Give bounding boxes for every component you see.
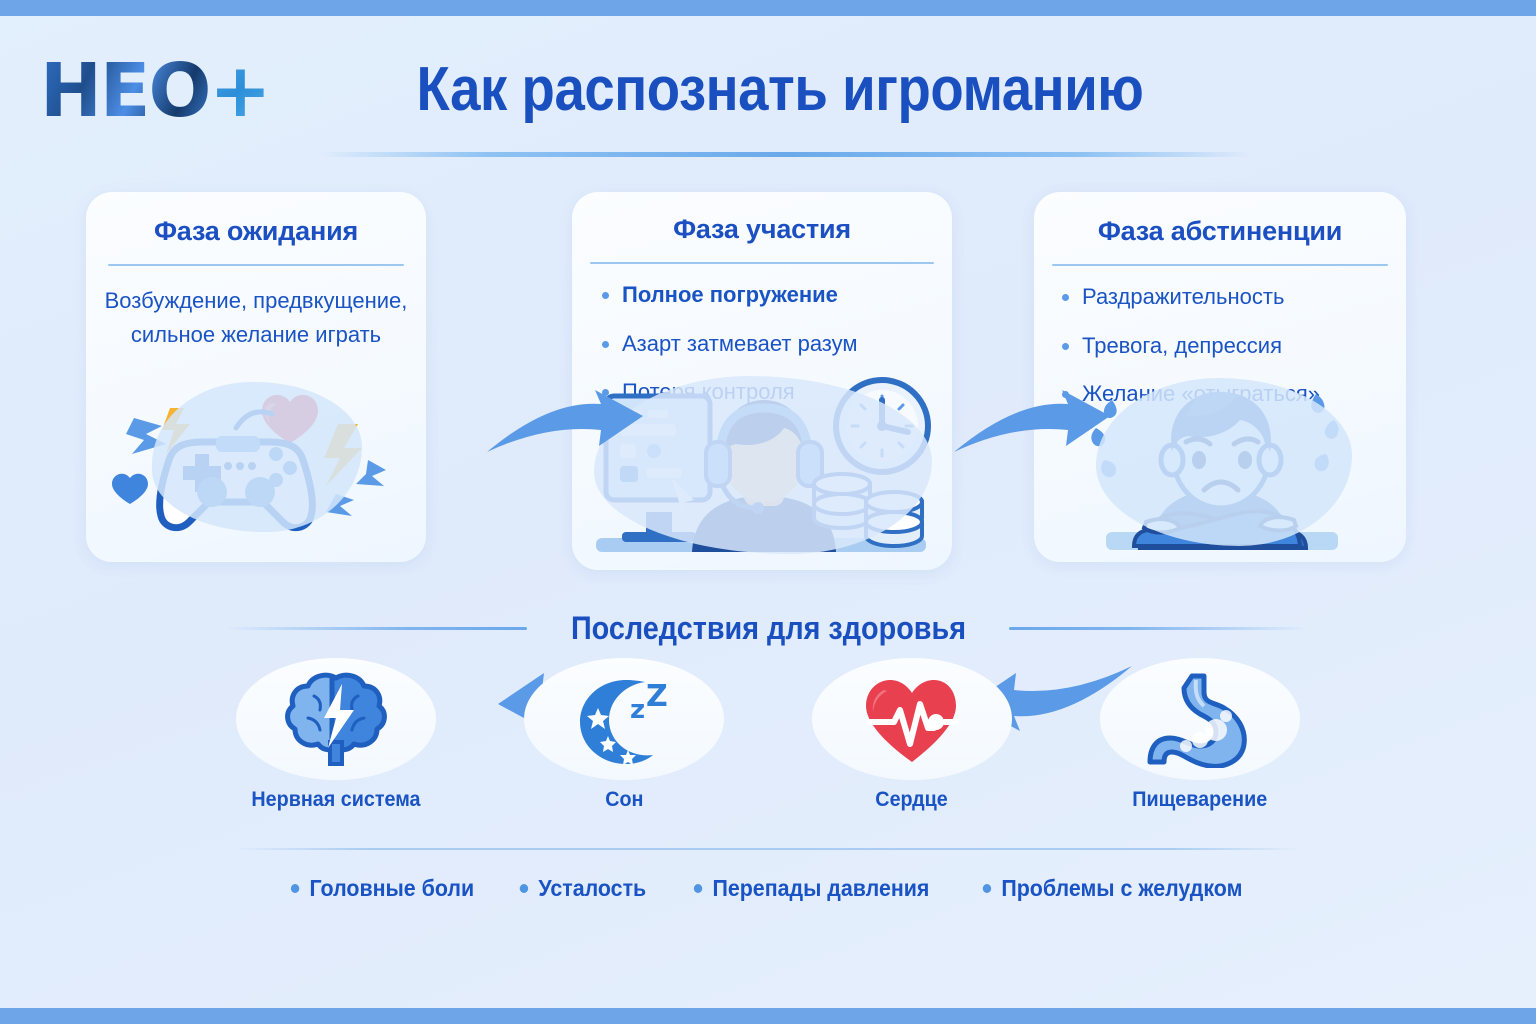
phase-bullet-item: Азарт затмевает разум [596,329,934,359]
consequences-heading-row: Последствия для здоровья [0,604,1536,652]
gamepad-heart-lightning-icon [100,374,412,556]
consequences-heading: Последствия для здоровья [570,610,965,647]
title-divider [320,152,1250,157]
phase-card-divider [108,264,404,266]
phase-card-anticipation: Фаза ожидания Возбуждение, предвкущение,… [86,192,426,562]
arrow-phase1-to-phase2-icon [481,388,651,469]
illustration-blob [1096,378,1352,546]
svg-text:z: z [630,695,645,725]
phases-section: Фаза ожидания Возбуждение, предвкущение,… [86,192,1406,562]
symptom-item: Проблемы с желудком [982,875,1242,902]
stomach-icon [1144,670,1256,768]
consequence-label: Сердце [876,788,948,812]
heading-rule-right [1009,627,1309,630]
consequence-item-heart: Сердце [808,658,1016,838]
arrow-right-svg [948,388,1118,464]
phase-card-text: Возбуждение, предвкущение, сильное желан… [104,284,408,352]
bullet-dot-icon [982,884,990,893]
icon-backdrop [812,658,1012,780]
consequence-item-sleep: z Z Сон [520,658,728,838]
consequence-label: Нервная система [251,788,420,812]
phase-card-divider [590,262,934,264]
header: НЕО+ Как распознать игроманию [0,28,1536,148]
consequence-item-nervous-system: Нервная система [232,658,440,838]
heart-pulse-icon [856,670,968,768]
brand-logo-text: НЕО [40,48,209,134]
phase-bullet-item: Тревога, депрессия [1056,331,1388,361]
moon-stars-zzz-icon: z Z [568,670,680,768]
symptom-item: Усталость [520,875,646,902]
page-title: Как распознать игроманию [402,54,1159,125]
phase-card-title: Фаза участия [572,214,952,245]
bottom-border-bar [0,1008,1536,1024]
brand-logo-plus: + [209,48,269,134]
icon-backdrop [1100,658,1300,780]
top-border-bar [0,0,1536,16]
symptom-label: Усталость [539,875,647,902]
icon-backdrop: z Z [524,658,724,780]
phase-bullet-item: Полное погружение [596,280,934,310]
symptom-label: Головные боли [310,875,475,902]
bullet-dot-icon [694,884,702,893]
icon-backdrop [236,658,436,780]
symptoms-row: Головные боли Усталость Перепады давлени… [0,864,1536,912]
phase-card-title: Фаза абстиненции [1034,216,1406,247]
symptom-label: Перепады давления [713,875,930,902]
infographic-page: НЕО+ Как распознать игроманию Фаза ожида… [0,0,1536,1024]
brand-logo: НЕО+ [40,54,269,128]
phase-card-withdrawal: Фаза абстиненции Раздражительность Трево… [1034,192,1406,562]
arrow-right-svg [481,388,651,464]
phase-card-participation: Фаза участия Полное погружение Азарт зат… [572,192,952,570]
symptom-label: Проблемы с желудком [1001,875,1242,902]
phase-card-divider [1052,264,1388,266]
consequence-label: Сон [605,788,643,812]
phase-card-title: Фаза ожидания [86,216,426,247]
consequences-icon-row: Нервная система z Z Сон [232,658,1304,838]
symptoms-divider [236,848,1300,850]
arrow-phase2-to-phase3-icon [948,388,1118,469]
bullet-dot-icon [291,884,299,893]
phase-bullet-item: Раздражительность [1056,282,1388,312]
consequence-label: Пищеварение [1133,788,1268,812]
illustration-blob [152,382,362,532]
consequence-item-digestion: Пищеварение [1096,658,1304,838]
svg-text:Z: Z [646,679,668,714]
bullet-dot-icon [520,884,528,893]
brain-lightning-icon [280,670,392,768]
symptom-item: Перепады давления [694,875,930,902]
heading-rule-left [227,627,527,630]
symptom-item: Головные боли [291,875,474,902]
